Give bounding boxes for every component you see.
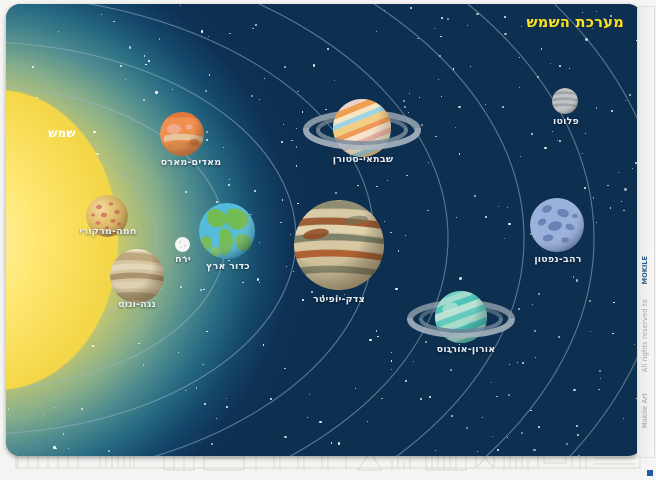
- star: [145, 64, 147, 66]
- star: [530, 410, 532, 412]
- star: [251, 95, 253, 97]
- star: [613, 302, 615, 304]
- moon-body: [175, 237, 190, 252]
- star: [254, 190, 256, 192]
- star: [410, 7, 412, 9]
- star: [338, 442, 340, 444]
- label-neptune: רהב-נפטון: [526, 254, 590, 265]
- star: [417, 38, 419, 40]
- star: [441, 96, 442, 97]
- star: [296, 146, 297, 147]
- star: [296, 165, 298, 167]
- earth-surface-icon: [199, 203, 255, 259]
- star: [569, 68, 570, 69]
- star: [496, 396, 498, 398]
- planet-earth: [199, 203, 255, 259]
- star: [398, 250, 400, 252]
- star: [470, 66, 471, 67]
- star: [453, 68, 455, 70]
- star: [229, 33, 231, 35]
- star: [578, 455, 580, 456]
- star: [566, 443, 568, 445]
- star: [291, 140, 293, 142]
- star: [406, 175, 408, 177]
- star: [8, 408, 10, 410]
- star: [441, 17, 443, 19]
- star: [593, 197, 595, 199]
- star: [242, 282, 244, 284]
- star: [508, 223, 510, 225]
- star: [447, 18, 449, 20]
- star: [420, 398, 422, 400]
- star: [53, 446, 55, 448]
- star: [435, 450, 436, 451]
- star: [259, 282, 260, 283]
- star: [297, 91, 299, 93]
- star: [196, 387, 198, 389]
- star: [376, 186, 378, 188]
- star: [584, 187, 586, 189]
- star: [596, 11, 597, 12]
- star: [590, 331, 591, 332]
- star: [155, 91, 157, 93]
- star: [596, 107, 598, 109]
- star: [143, 99, 145, 101]
- star: [384, 221, 385, 222]
- star: [427, 210, 429, 212]
- star: [367, 421, 368, 422]
- star: [428, 162, 429, 163]
- star: [43, 414, 45, 416]
- star: [180, 5, 181, 6]
- star: [202, 364, 204, 366]
- star: [621, 201, 622, 202]
- star: [517, 362, 518, 363]
- star: [357, 185, 359, 187]
- star: [413, 361, 414, 362]
- star: [216, 201, 218, 203]
- star: [203, 289, 205, 291]
- star: [384, 10, 385, 11]
- star: [311, 291, 313, 293]
- star: [283, 124, 284, 125]
- star: [93, 131, 95, 133]
- star: [63, 433, 64, 434]
- star: [435, 136, 437, 138]
- star: [598, 389, 600, 391]
- pluto-surface-icon: [552, 88, 578, 114]
- star: [504, 238, 505, 239]
- star: [309, 394, 310, 395]
- star: [531, 133, 533, 135]
- neptune-surface-icon: [530, 198, 584, 252]
- star: [582, 12, 583, 13]
- star: [459, 277, 461, 279]
- label-moon: ירח: [166, 254, 200, 265]
- star: [507, 437, 508, 438]
- star: [522, 362, 524, 364]
- watermark-bar: [637, 6, 655, 458]
- star: [455, 127, 456, 128]
- star: [319, 421, 321, 423]
- star: [482, 417, 483, 418]
- star: [178, 352, 179, 353]
- star: [518, 308, 520, 310]
- star: [264, 78, 265, 79]
- star: [589, 300, 591, 302]
- star: [521, 432, 523, 434]
- star: [226, 406, 228, 408]
- star: [459, 153, 461, 155]
- star: [391, 360, 393, 362]
- star: [120, 65, 122, 67]
- star: [81, 408, 83, 410]
- star: [297, 203, 299, 205]
- page-title: מערכת השמש: [527, 15, 625, 31]
- star: [439, 55, 441, 57]
- star: [32, 66, 34, 68]
- star: [144, 55, 145, 56]
- star: [610, 207, 612, 209]
- star: [405, 235, 406, 236]
- label-venus: נגה-ונוס: [102, 299, 172, 310]
- star: [257, 278, 259, 280]
- star: [68, 448, 69, 449]
- star: [550, 63, 551, 64]
- star: [476, 13, 478, 15]
- star: [502, 106, 504, 108]
- star: [559, 140, 561, 142]
- star: [533, 449, 535, 451]
- star: [327, 48, 329, 50]
- star: [284, 368, 285, 369]
- star: [307, 417, 308, 418]
- star: [252, 28, 253, 29]
- brand-badge-icon: [647, 470, 653, 476]
- star: [535, 357, 536, 358]
- star: [206, 131, 208, 133]
- star: [600, 378, 602, 380]
- star: [290, 234, 291, 235]
- star: [395, 288, 397, 290]
- star: [629, 94, 631, 96]
- star: [498, 206, 499, 207]
- star: [485, 216, 487, 218]
- star: [296, 128, 298, 130]
- star: [293, 271, 294, 272]
- star: [201, 30, 203, 32]
- star: [576, 425, 578, 427]
- star: [532, 304, 533, 305]
- planet-venus: [110, 249, 164, 303]
- planet-jupiter: [294, 200, 384, 290]
- planet-neptune: [530, 198, 584, 252]
- star: [623, 210, 625, 212]
- label-saturn: שבתאי-סטורן: [326, 154, 400, 165]
- star: [612, 333, 614, 335]
- star: [440, 36, 442, 38]
- star: [282, 199, 283, 200]
- star: [544, 147, 546, 149]
- label-pluto: פלוטו: [548, 116, 584, 127]
- label-mars: מאדים-מארס: [156, 157, 226, 168]
- star: [596, 222, 597, 223]
- star: [521, 26, 522, 27]
- star: [438, 79, 439, 80]
- star: [208, 36, 209, 37]
- star: [108, 450, 110, 452]
- star: [599, 370, 601, 372]
- star: [113, 21, 115, 23]
- star: [504, 16, 506, 18]
- star: [334, 80, 335, 81]
- star: [54, 407, 55, 408]
- star: [270, 398, 272, 400]
- star: [537, 76, 539, 78]
- star: [634, 344, 636, 346]
- star: [284, 436, 286, 438]
- star: [185, 191, 187, 193]
- star: [577, 434, 579, 436]
- star: [263, 344, 265, 346]
- star: [625, 100, 626, 101]
- star: [226, 398, 227, 399]
- poster-stage: שמש: [0, 0, 656, 480]
- star: [185, 390, 186, 391]
- star: [335, 192, 337, 194]
- star: [58, 31, 59, 32]
- star: [229, 179, 230, 180]
- star: [381, 398, 383, 400]
- star: [466, 427, 468, 429]
- star: [573, 389, 575, 391]
- star: [143, 364, 145, 366]
- solar-system-poster: שמש: [6, 4, 642, 456]
- star: [92, 345, 94, 347]
- label-earth: כדור ארץ: [199, 261, 257, 272]
- star: [209, 74, 211, 76]
- star: [369, 339, 371, 341]
- watermark-credit: Mokile Art: [641, 393, 655, 428]
- star: [582, 153, 583, 154]
- star: [552, 131, 553, 132]
- star: [148, 60, 150, 62]
- star: [491, 382, 492, 383]
- star: [129, 46, 131, 48]
- mars-surface-icon: [160, 112, 204, 156]
- star: [259, 242, 260, 243]
- star: [520, 156, 521, 157]
- star: [507, 207, 508, 208]
- star: [391, 369, 392, 370]
- star: [458, 106, 460, 108]
- star: [331, 442, 333, 444]
- star: [259, 99, 260, 100]
- star: [377, 336, 378, 337]
- star: [280, 222, 282, 224]
- star: [255, 24, 257, 26]
- planet-mars: [160, 112, 204, 156]
- star: [281, 141, 283, 143]
- star: [618, 172, 619, 173]
- star: [541, 48, 543, 50]
- star: [101, 14, 102, 15]
- star: [205, 90, 207, 92]
- star: [390, 232, 392, 234]
- star: [585, 133, 586, 134]
- star: [456, 217, 457, 218]
- star: [172, 89, 173, 90]
- jupiter-surface-icon: [294, 200, 384, 290]
- star: [477, 451, 478, 452]
- watermark-brand: MOKILE: [641, 256, 655, 284]
- star: [492, 436, 493, 437]
- star: [623, 418, 624, 419]
- star: [485, 104, 486, 105]
- star: [180, 286, 182, 288]
- planet-uranus: [406, 286, 516, 352]
- star: [313, 64, 315, 66]
- star: [573, 276, 574, 277]
- star: [206, 139, 208, 141]
- star: [538, 293, 540, 295]
- star: [284, 66, 286, 68]
- star: [632, 168, 633, 169]
- star: [429, 396, 431, 398]
- star: [624, 188, 626, 190]
- venus-surface-icon: [110, 249, 164, 303]
- label-sun: שמש: [32, 126, 92, 140]
- star: [519, 87, 520, 88]
- star: [387, 180, 388, 181]
- star: [611, 110, 613, 112]
- star: [559, 65, 561, 67]
- star: [450, 369, 452, 371]
- star: [451, 415, 453, 417]
- star: [405, 380, 407, 382]
- star: [434, 28, 436, 30]
- star: [607, 185, 609, 187]
- star: [204, 403, 206, 405]
- star: [576, 279, 578, 281]
- star: [159, 38, 161, 40]
- star: [509, 364, 510, 365]
- star: [206, 331, 208, 333]
- star: [376, 31, 377, 32]
- star: [376, 330, 378, 332]
- star: [467, 25, 468, 26]
- moon-surface-icon: [175, 237, 190, 252]
- uranus-with-rings-icon: [406, 286, 516, 352]
- label-uranus: אורון-אורנוס: [424, 344, 508, 355]
- star: [200, 289, 202, 291]
- watermark-rights: All rights reserved to: [641, 299, 655, 372]
- star: [534, 330, 536, 332]
- star: [228, 184, 230, 186]
- label-mercury: חמה-מרקורי: [68, 226, 148, 237]
- star: [211, 443, 213, 445]
- star: [138, 343, 139, 344]
- star: [474, 195, 476, 197]
- star: [125, 79, 126, 80]
- star: [557, 140, 558, 141]
- star: [538, 426, 540, 428]
- star: [558, 336, 560, 338]
- star: [508, 394, 510, 396]
- star: [519, 57, 520, 58]
- star: [585, 38, 587, 40]
- star: [504, 33, 506, 35]
- star: [216, 418, 217, 419]
- label-jupiter: צדק-יופיטר: [301, 294, 377, 305]
- star: [223, 147, 224, 148]
- star: [355, 388, 356, 389]
- planet-pluto: [552, 88, 578, 114]
- star: [497, 449, 499, 451]
- star: [391, 352, 392, 353]
- star: [286, 266, 287, 267]
